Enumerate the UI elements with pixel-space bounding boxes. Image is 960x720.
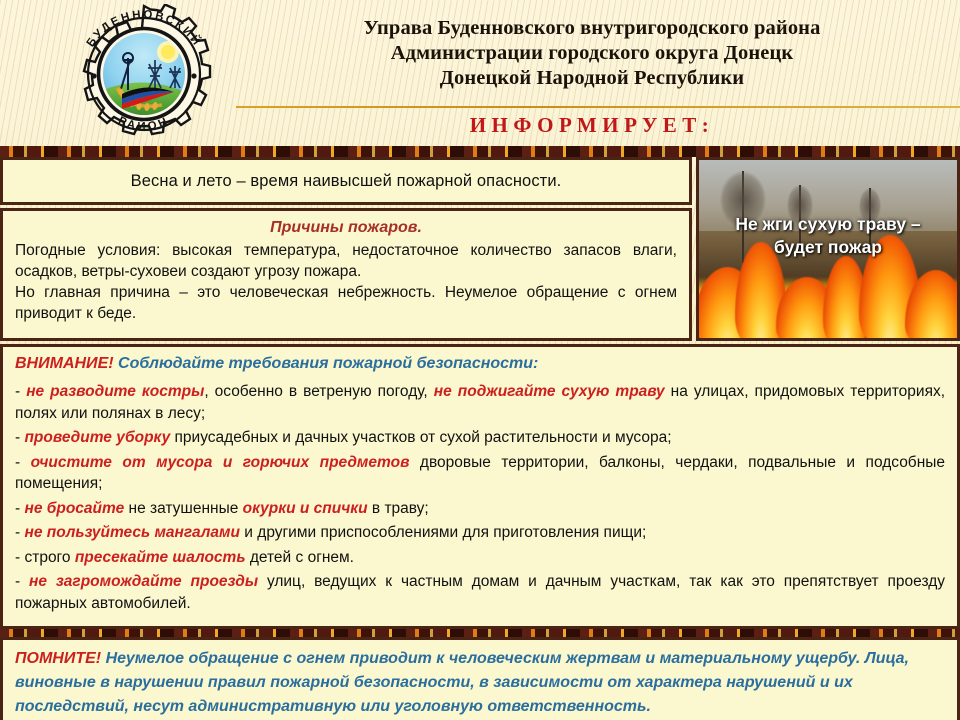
rule-text: - строго <box>15 549 75 566</box>
rule-text: и другими приспособлениями для приготовл… <box>240 524 646 541</box>
rule-item: - не бросайте не затушенные окурки и спи… <box>15 498 945 520</box>
rule-highlight: не поджигайте сухую траву <box>434 383 665 400</box>
photo-caption-line-2: будет пожар <box>705 236 951 259</box>
mosaic-divider-top <box>0 146 960 157</box>
district-emblem: БУДЕННОВСКИЙ РАЙОН <box>58 4 230 144</box>
causes-paragraph-1: Погодные условия: высокая температура, н… <box>15 240 677 282</box>
causes-title: Причины пожаров. <box>15 219 677 237</box>
intro-text-column: Весна и лето – время наивысшей пожарной … <box>0 157 692 341</box>
rule-text: приусадебных и дачных участков от сухой … <box>170 429 671 446</box>
remember-keyword: ПОМНИТЕ! <box>15 650 101 667</box>
rules-list: - не разводите костры, особенно в ветрен… <box>15 381 945 614</box>
rule-item: - не пользуйтесь мангалами и другими при… <box>15 522 945 544</box>
rule-highlight: пресекайте шалость <box>75 549 246 566</box>
season-notice-panel: Весна и лето – время наивысшей пожарной … <box>0 157 692 205</box>
rule-highlight: не разводите костры <box>26 383 204 400</box>
rule-text: - <box>15 454 31 471</box>
rule-highlight: не пользуйтесь мангалами <box>24 524 240 541</box>
rule-item: - не загромождайте проезды улиц, ведущих… <box>15 571 945 614</box>
fire-photo-image: Не жги сухую траву – будет пожар <box>699 160 957 338</box>
title-line-3: Донецкой Народной Республики <box>236 66 948 91</box>
rule-item: - не разводите костры, особенно в ветрен… <box>15 381 945 424</box>
remember-body-text: Неумелое обращение с огнем приводит к че… <box>15 650 909 715</box>
remember-text: ПОМНИТЕ! Неумелое обращение с огнем прив… <box>15 647 945 719</box>
rule-highlight: очистите от мусора и горючих предметов <box>31 454 410 471</box>
rule-highlight: не бросайте <box>24 500 124 517</box>
emblem-scene <box>103 33 185 115</box>
rule-highlight: окурки и спички <box>243 500 368 517</box>
title-line-2: Администрации городского округа Донецк <box>236 41 948 66</box>
rule-text: в траву; <box>368 500 429 517</box>
rule-item: - строго пресекайте шалость детей с огне… <box>15 547 945 569</box>
header-title-block: Управа Буденновского внутригородского ра… <box>236 16 948 91</box>
title-line-1: Управа Буденновского внутригородского ра… <box>236 16 948 41</box>
rule-text: детей с огнем. <box>246 549 354 566</box>
rule-highlight: проведите уборку <box>24 429 170 446</box>
header-gold-divider <box>236 106 960 108</box>
intro-row: Весна и лето – время наивысшей пожарной … <box>0 157 960 341</box>
rules-subtitle: Соблюдайте требования пожарной безопасно… <box>118 355 538 372</box>
rule-item: - проведите уборку приусадебных и дачных… <box>15 427 945 449</box>
photo-caption: Не жги сухую траву – будет пожар <box>699 213 957 259</box>
poster-header: БУДЕННОВСКИЙ РАЙОН <box>0 0 960 146</box>
mosaic-divider-middle <box>0 629 960 637</box>
rule-item: - очистите от мусора и горючих предметов… <box>15 452 945 495</box>
photo-caption-line-1: Не жги сухую траву – <box>705 213 951 236</box>
rule-highlight: не загромождайте проезды <box>29 573 258 590</box>
rules-heading: ВНИМАНИЕ! Соблюдайте требования пожарной… <box>15 355 945 373</box>
informs-heading: ИНФОРМИРУЕТ: <box>236 113 948 138</box>
poster-root: БУДЕННОВСКИЙ РАЙОН <box>0 0 960 720</box>
season-notice-text: Весна и лето – время наивысшей пожарной … <box>131 172 562 191</box>
causes-panel: Причины пожаров. Погодные условия: высок… <box>0 208 692 341</box>
fire-safety-rules-panel: ВНИМАНИЕ! Соблюдайте требования пожарной… <box>0 344 960 629</box>
remember-panel: ПОМНИТЕ! Неумелое обращение с огнем прив… <box>0 637 960 720</box>
rule-text: - <box>15 573 29 590</box>
rule-text: не затушенные <box>124 500 242 517</box>
fire-photo-panel: Не жги сухую траву – будет пожар <box>696 157 960 341</box>
rule-text: , особенно в ветреную погоду, <box>204 383 433 400</box>
attention-keyword: ВНИМАНИЕ! <box>15 355 114 372</box>
rule-text: - <box>15 383 26 400</box>
causes-paragraph-2: Но главная причина – это человеческая не… <box>15 282 677 324</box>
